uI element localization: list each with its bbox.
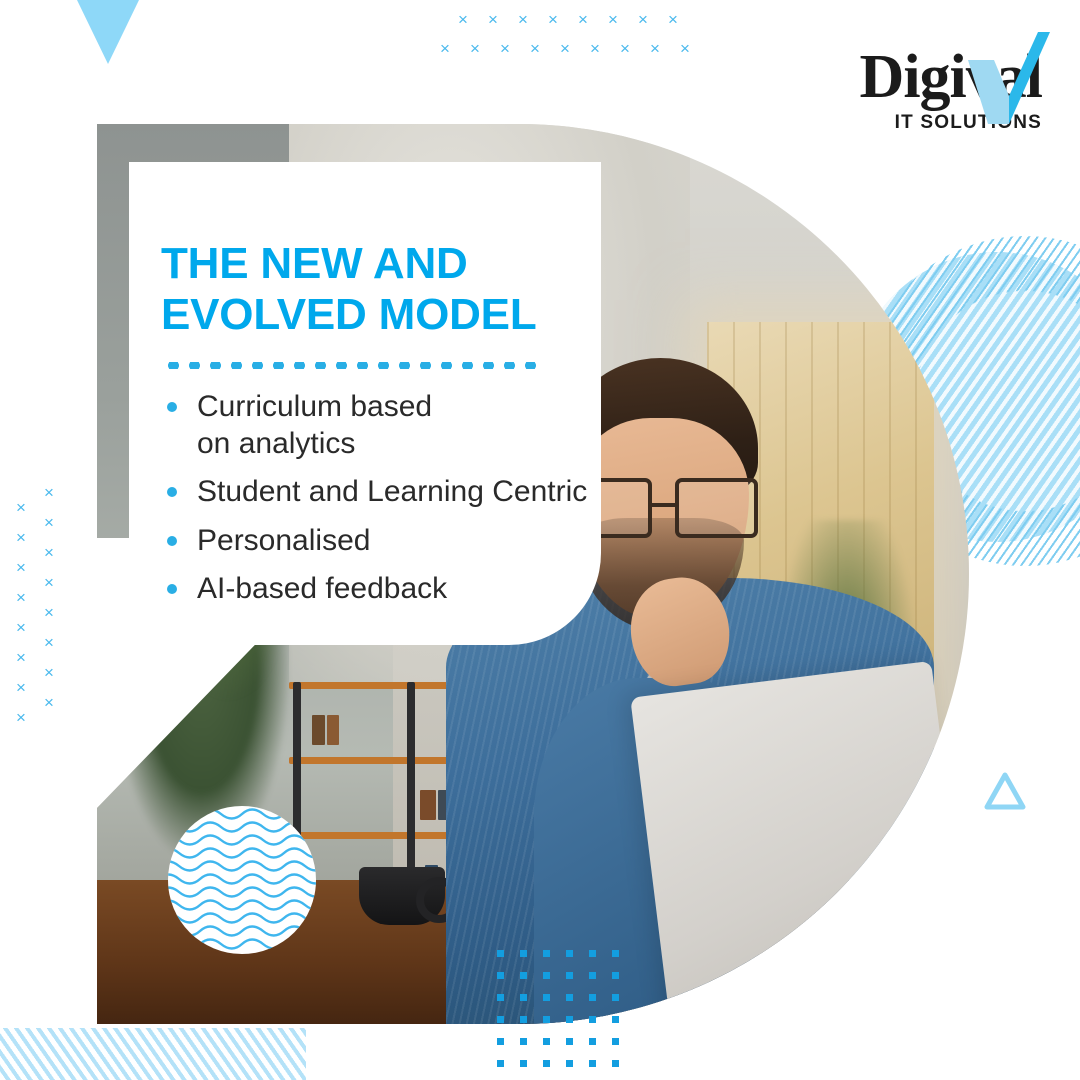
list-item: Personalised: [161, 523, 601, 560]
grid-dot: [497, 950, 504, 957]
cross-mark-icon: ×: [44, 574, 54, 591]
grid-dot: [543, 1038, 550, 1045]
grid-dot: [566, 1016, 573, 1023]
diagonal-stripe-band: [0, 1028, 306, 1080]
grid-dot: [497, 1016, 504, 1023]
cross-mark-icon: ×: [44, 484, 54, 501]
cross-mark-icon: ×: [44, 664, 54, 681]
brand-logo[interactable]: Digival IT SOLUTIONS: [860, 46, 1042, 134]
cross-mark-icon: ×: [638, 11, 648, 28]
grid-dot: [589, 1016, 596, 1023]
cross-mark-icon: ×: [16, 559, 26, 576]
grid-dot: [520, 994, 527, 1001]
triangle-up-outline-icon: [984, 772, 1026, 810]
list-item: AI-based feedback: [161, 571, 601, 608]
grid-dot: [612, 994, 619, 1001]
grid-dot: [566, 1038, 573, 1045]
cross-mark-icon: ×: [16, 589, 26, 606]
cross-mark-icon: ×: [44, 634, 54, 651]
grid-dot: [589, 950, 596, 957]
dotted-divider: [163, 362, 537, 369]
grid-dot: [566, 994, 573, 1001]
cross-mark-icon: ×: [668, 11, 678, 28]
checkmark-icon: [964, 32, 1050, 129]
poster-canvas: ××××××××××××××××× ××××××××××××××××: [0, 0, 1080, 1080]
grid-dot: [543, 994, 550, 1001]
laptop-screen: [630, 661, 969, 1024]
grid-dot: [589, 1060, 596, 1067]
grid-dot: [520, 1016, 527, 1023]
cross-mark-icon: ×: [470, 40, 480, 57]
cross-mark-icon: ×: [578, 11, 588, 28]
text-card: THE NEW AND EVOLVED MODEL Curriculum bas…: [129, 162, 601, 645]
cross-mark-icon: ×: [44, 514, 54, 531]
cross-mark-icon: ×: [650, 40, 660, 57]
cross-mark-icon: ×: [44, 694, 54, 711]
cross-mark-icon: ×: [440, 40, 450, 57]
grid-dot: [589, 1038, 596, 1045]
list-item: Student and Learning Centric: [161, 474, 601, 511]
grid-dot: [520, 1038, 527, 1045]
coffee-mug: [359, 867, 445, 925]
wavy-lines-circle-decoration: [168, 806, 316, 954]
cross-mark-icon: ×: [44, 604, 54, 621]
grid-dot: [520, 1060, 527, 1067]
cross-mark-icon: ×: [560, 40, 570, 57]
grid-dot: [612, 950, 619, 957]
grid-dot: [520, 950, 527, 957]
grid-dot: [566, 972, 573, 979]
cross-mark-icon: ×: [16, 679, 26, 696]
cross-mark-icon: ×: [620, 40, 630, 57]
cross-mark-icon: ×: [488, 11, 498, 28]
cross-mark-icon: ×: [530, 40, 540, 57]
grid-dot: [543, 950, 550, 957]
cross-mark-icon: ×: [548, 11, 558, 28]
grid-dot: [612, 1016, 619, 1023]
cross-mark-icon: ×: [16, 619, 26, 636]
feature-list: Curriculum based on analyticsStudent and…: [161, 389, 601, 608]
cross-mark-icon: ×: [16, 649, 26, 666]
grid-dot: [520, 972, 527, 979]
list-item: Curriculum based on analytics: [161, 389, 601, 462]
cross-mark-icon: ×: [680, 40, 690, 57]
cross-mark-icon: ×: [44, 544, 54, 561]
cross-mark-icon: ×: [500, 40, 510, 57]
grid-dot: [566, 950, 573, 957]
cross-mark-icon: ×: [16, 499, 26, 516]
cross-mark-icon: ×: [518, 11, 528, 28]
page-title: THE NEW AND EVOLVED MODEL: [161, 238, 601, 340]
grid-dot: [497, 1038, 504, 1045]
cross-mark-icon: ×: [16, 529, 26, 546]
grid-dot: [612, 1038, 619, 1045]
grid-dot: [543, 1060, 550, 1067]
grid-dot: [497, 972, 504, 979]
triangle-down-solid-icon: [46, 0, 170, 64]
grid-dot: [543, 972, 550, 979]
grid-dot: [589, 994, 596, 1001]
grid-dot: [589, 972, 596, 979]
cross-mark-icon: ×: [590, 40, 600, 57]
grid-dot: [543, 1016, 550, 1023]
grid-dot: [497, 1060, 504, 1067]
cross-mark-icon: ×: [458, 11, 468, 28]
grid-dot: [566, 1060, 573, 1067]
cross-mark-icon: ×: [16, 709, 26, 726]
grid-dot: [612, 1060, 619, 1067]
cross-mark-icon: ×: [608, 11, 618, 28]
grid-dot: [497, 994, 504, 1001]
grid-dot: [612, 972, 619, 979]
